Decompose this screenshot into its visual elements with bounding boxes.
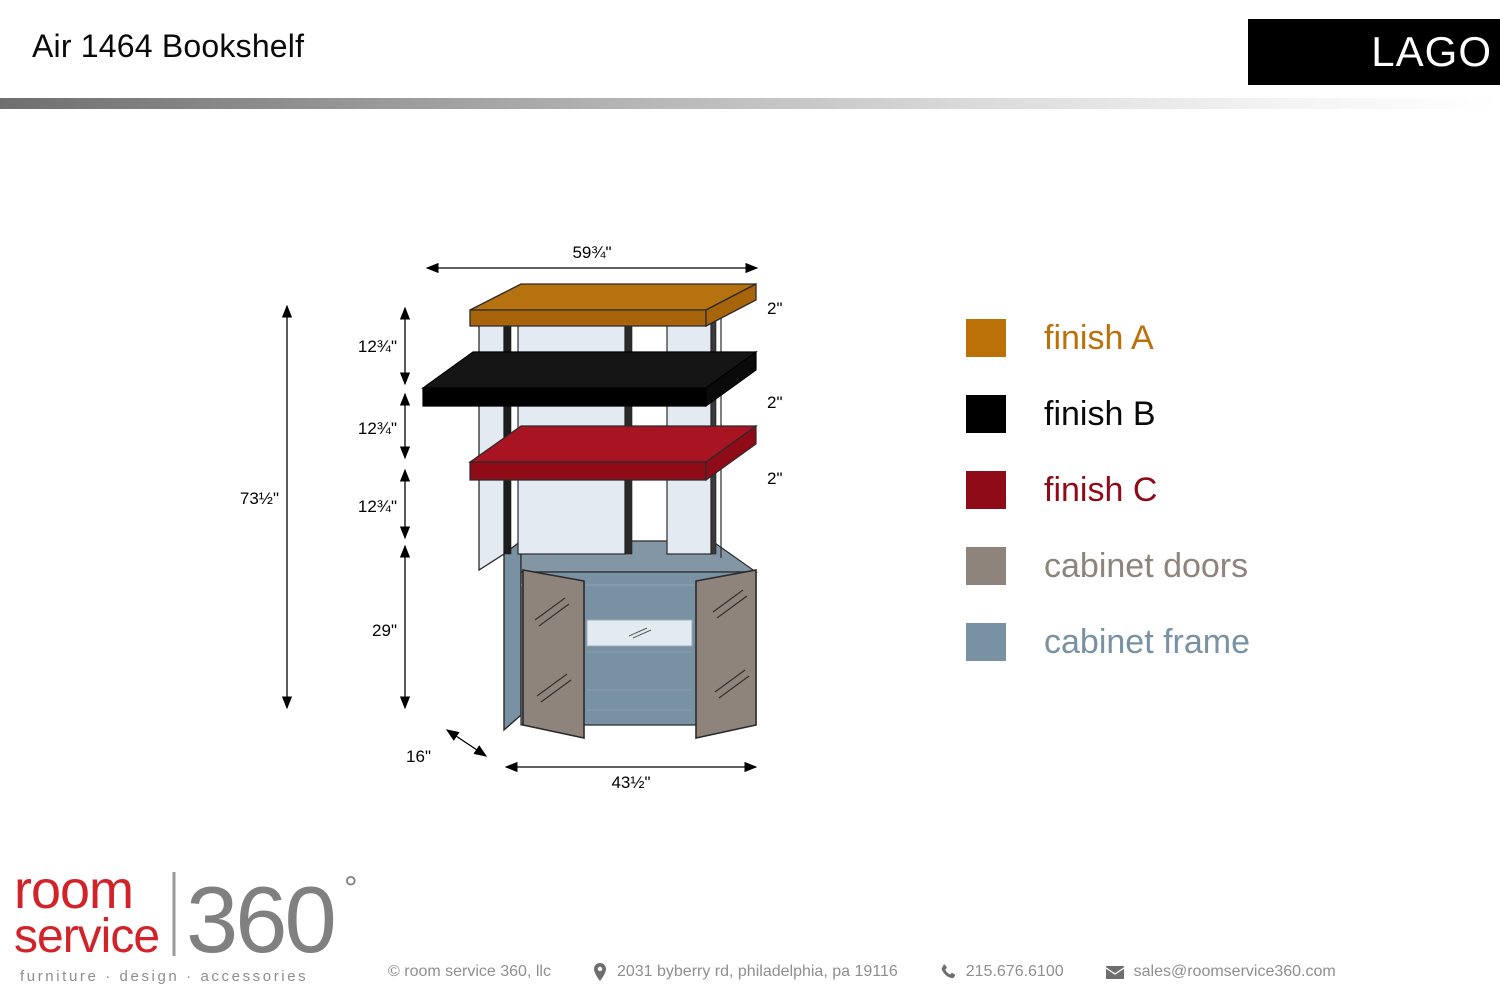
dim-depth-line xyxy=(447,730,486,756)
footer-copyright-text: © room service 360, llc xyxy=(388,964,551,980)
legend-swatch-cabinet-doors xyxy=(966,547,1006,585)
dim-top-width-label: 59¾" xyxy=(572,243,611,262)
dim-shelf-b-thickness-label: 2" xyxy=(767,393,783,412)
shelf-finish-c-edge xyxy=(470,462,706,480)
dim-overall-height-label: 73½" xyxy=(240,489,279,508)
product-diagram: 59¾" 73½" 12¾" 12¾" 12¾" 29" xyxy=(215,240,915,820)
legend-label-finish-a: finish A xyxy=(1044,321,1154,355)
logo-degree-symbol: ° xyxy=(344,870,358,908)
lago-logo: LAGO xyxy=(1248,19,1500,85)
dim-cabinet-height-label: 29" xyxy=(372,621,397,640)
legend-item-finish-a[interactable]: finish A xyxy=(966,300,1386,376)
glass-panel-left-side xyxy=(479,301,504,570)
dim-section-2-label: 12¾" xyxy=(358,419,397,438)
shelf-finish-b-top xyxy=(423,352,756,388)
shelf-finish-a-edge xyxy=(470,310,706,326)
footer-email-text: sales@roomservice360.com xyxy=(1134,964,1336,980)
slide-page: Air 1464 Bookshelf LAGO xyxy=(0,0,1500,1000)
footer-contact-bar: © room service 360, llc 2031 byberry rd,… xyxy=(388,963,1336,981)
page-title: Air 1464 Bookshelf xyxy=(32,28,304,65)
legend-label-finish-c: finish C xyxy=(1044,473,1157,507)
upright-post-left xyxy=(504,301,511,554)
finish-legend: finish A finish B finish C cabinet doors… xyxy=(966,300,1386,680)
bookshelf-drawing: 59¾" 73½" 12¾" 12¾" 12¾" 29" xyxy=(240,243,783,792)
footer-address: 2031 byberry rd, philadelphia, pa 19116 xyxy=(593,963,898,981)
legend-swatch-cabinet-frame xyxy=(966,623,1006,661)
logo-tagline: furniture · design · accessories xyxy=(20,968,308,985)
shelf-finish-c xyxy=(470,426,756,480)
dim-shelf-c-thickness-label: 2" xyxy=(767,469,783,488)
legend-label-cabinet-frame: cabinet frame xyxy=(1044,625,1250,659)
shelf-finish-b-edge xyxy=(423,388,706,406)
legend-item-finish-c[interactable]: finish C xyxy=(966,452,1386,528)
footer-address-text: 2031 byberry rd, philadelphia, pa 19116 xyxy=(617,964,898,980)
location-pin-icon xyxy=(593,963,607,981)
phone-icon xyxy=(940,964,956,980)
dim-section-3-label: 12¾" xyxy=(358,497,397,516)
logo-number-360: 360 xyxy=(186,867,334,966)
dim-shelf-a-thickness-label: 2" xyxy=(767,299,783,318)
legend-label-cabinet-doors: cabinet doors xyxy=(1044,549,1248,583)
footer-email[interactable]: sales@roomservice360.com xyxy=(1106,964,1336,980)
cabinet-door-left xyxy=(523,570,584,738)
legend-label-finish-b: finish B xyxy=(1044,397,1156,431)
lago-logo-text: LAGO xyxy=(1371,31,1492,73)
footer-copyright: © room service 360, llc xyxy=(388,964,551,980)
legend-swatch-finish-a xyxy=(966,319,1006,357)
footer-phone-text: 215.676.6100 xyxy=(966,964,1064,980)
legend-item-finish-b[interactable]: finish B xyxy=(966,376,1386,452)
cabinet-left-wing xyxy=(504,541,521,730)
dim-depth-label: 16" xyxy=(406,747,431,766)
logo-word-service: service xyxy=(14,910,159,963)
dim-section-1-label: 12¾" xyxy=(358,337,397,356)
legend-item-cabinet-frame[interactable]: cabinet frame xyxy=(966,604,1386,680)
cabinet-door-right xyxy=(696,570,756,738)
dim-base-width-label: 43½" xyxy=(611,773,650,792)
legend-item-cabinet-doors[interactable]: cabinet doors xyxy=(966,528,1386,604)
legend-swatch-finish-c xyxy=(966,471,1006,509)
shelf-finish-b xyxy=(423,352,756,406)
legend-swatch-finish-b xyxy=(966,395,1006,433)
header-divider xyxy=(0,98,1500,109)
envelope-icon xyxy=(1106,966,1124,979)
shelf-finish-a xyxy=(470,284,756,326)
cabinet-assembly xyxy=(504,541,756,738)
footer-phone[interactable]: 215.676.6100 xyxy=(940,964,1064,980)
cabinet-interior-glass-shelf xyxy=(587,620,692,646)
